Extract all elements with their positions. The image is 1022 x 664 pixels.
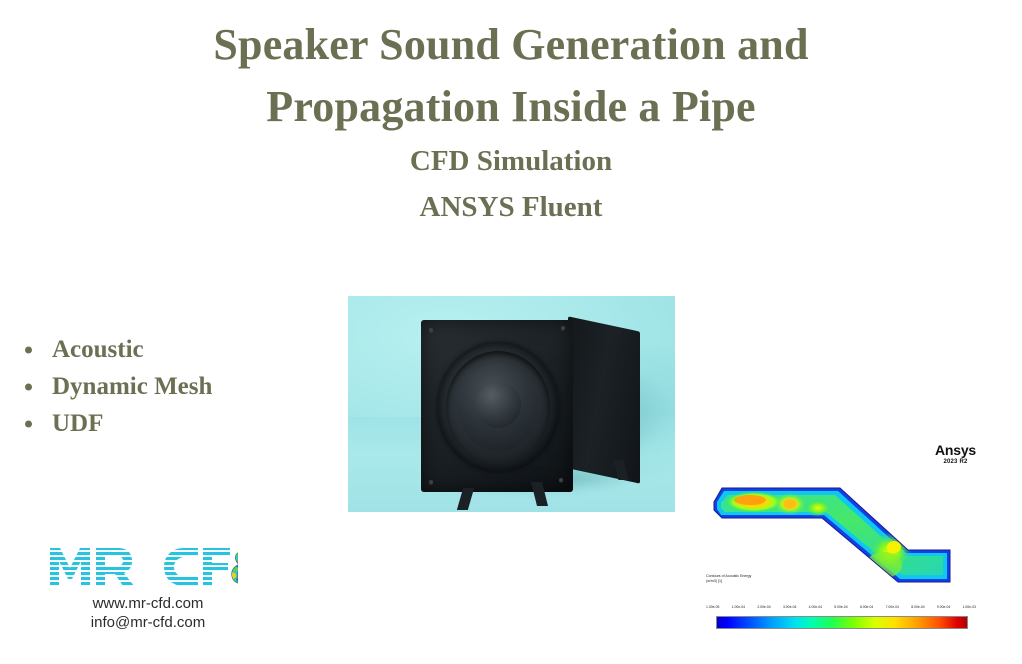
speaker-front-panel	[421, 320, 573, 492]
bullet-label: UDF	[52, 410, 103, 437]
feature-bullet-list: Acoustic Dynamic Mesh UDF	[22, 331, 212, 442]
mr-cfd-logo: δ www.mr-cfd.com info@mr-cfd.com	[48, 542, 248, 632]
colorbar	[716, 616, 968, 629]
bullet-dot-icon	[25, 383, 32, 390]
email-address[interactable]: info@mr-cfd.com	[48, 613, 248, 632]
mr-cfd-logo-svg: δ	[48, 542, 238, 590]
subtitle-ansys-fluent: ANSYS Fluent	[0, 184, 1022, 230]
mr-cfd-logo-mark: δ	[48, 542, 248, 590]
colorbar-tick-labels: 1.00e-05 1.00e-04 2.00e-04 3.00e-04 4.00…	[706, 605, 976, 614]
bullet-label: Acoustic	[52, 336, 144, 363]
list-item: Dynamic Mesh	[22, 368, 212, 405]
mr-cf-lettermark	[50, 548, 230, 586]
subtitle-cfd-simulation: CFD Simulation	[0, 138, 1022, 184]
driver-cone	[458, 363, 538, 451]
colorbar-tick: 1.00e-04	[732, 605, 745, 614]
delta-glyph: δ	[230, 543, 238, 590]
colorbar-tick: 8.00e-04	[911, 605, 924, 614]
bullet-label: Dynamic Mesh	[52, 373, 212, 400]
colorbar-tick: 7.00e-04	[886, 605, 899, 614]
page-title-line-1: Speaker Sound Generation and	[0, 14, 1022, 76]
bullet-dot-icon	[25, 346, 32, 353]
colorbar-tick: 5.00e-04	[834, 605, 847, 614]
title-block: Speaker Sound Generation and Propagation…	[0, 14, 1022, 230]
screw-icon	[559, 478, 563, 482]
driver-surround	[446, 351, 550, 463]
list-item: UDF	[22, 405, 212, 442]
contour-legend-title: Contours of Acoustic Energy (w/m3) [1]	[706, 574, 751, 584]
colorbar-tick: 3.00e-04	[783, 605, 796, 614]
page-title-line-2: Propagation Inside a Pipe	[0, 76, 1022, 138]
contour-plot-svg	[712, 464, 952, 584]
ansys-logo: Ansys 2023 R2	[935, 442, 976, 465]
screw-icon	[429, 328, 433, 332]
list-item: Acoustic	[22, 331, 212, 368]
ansys-wordmark: Ansys	[935, 442, 976, 458]
colorbar-tick: 9.00e-04	[937, 605, 950, 614]
colorbar-tick: 4.00e-04	[809, 605, 822, 614]
colorbar-tick: 1.00e-05	[706, 605, 719, 614]
speaker-side-panel	[568, 316, 640, 483]
screw-icon	[561, 326, 565, 330]
colorbar-tick: 2.00e-04	[757, 605, 770, 614]
contour-plot	[712, 464, 952, 584]
speaker-driver	[437, 342, 559, 472]
website-url[interactable]: www.mr-cfd.com	[48, 594, 248, 613]
colorbar-tick: 6.00e-04	[860, 605, 873, 614]
speaker-photo	[348, 296, 675, 512]
contact-info: www.mr-cfd.com info@mr-cfd.com	[48, 594, 248, 632]
driver-dust-cap	[475, 382, 521, 428]
slide-root: Speaker Sound Generation and Propagation…	[0, 0, 1022, 664]
colorbar-tick: 1.00e-03	[963, 605, 976, 614]
cfd-contour-figure: Ansys 2023 R2	[700, 434, 1010, 639]
bullet-dot-icon	[25, 420, 32, 427]
screw-icon	[429, 480, 433, 484]
svg-text:δ: δ	[230, 543, 238, 590]
